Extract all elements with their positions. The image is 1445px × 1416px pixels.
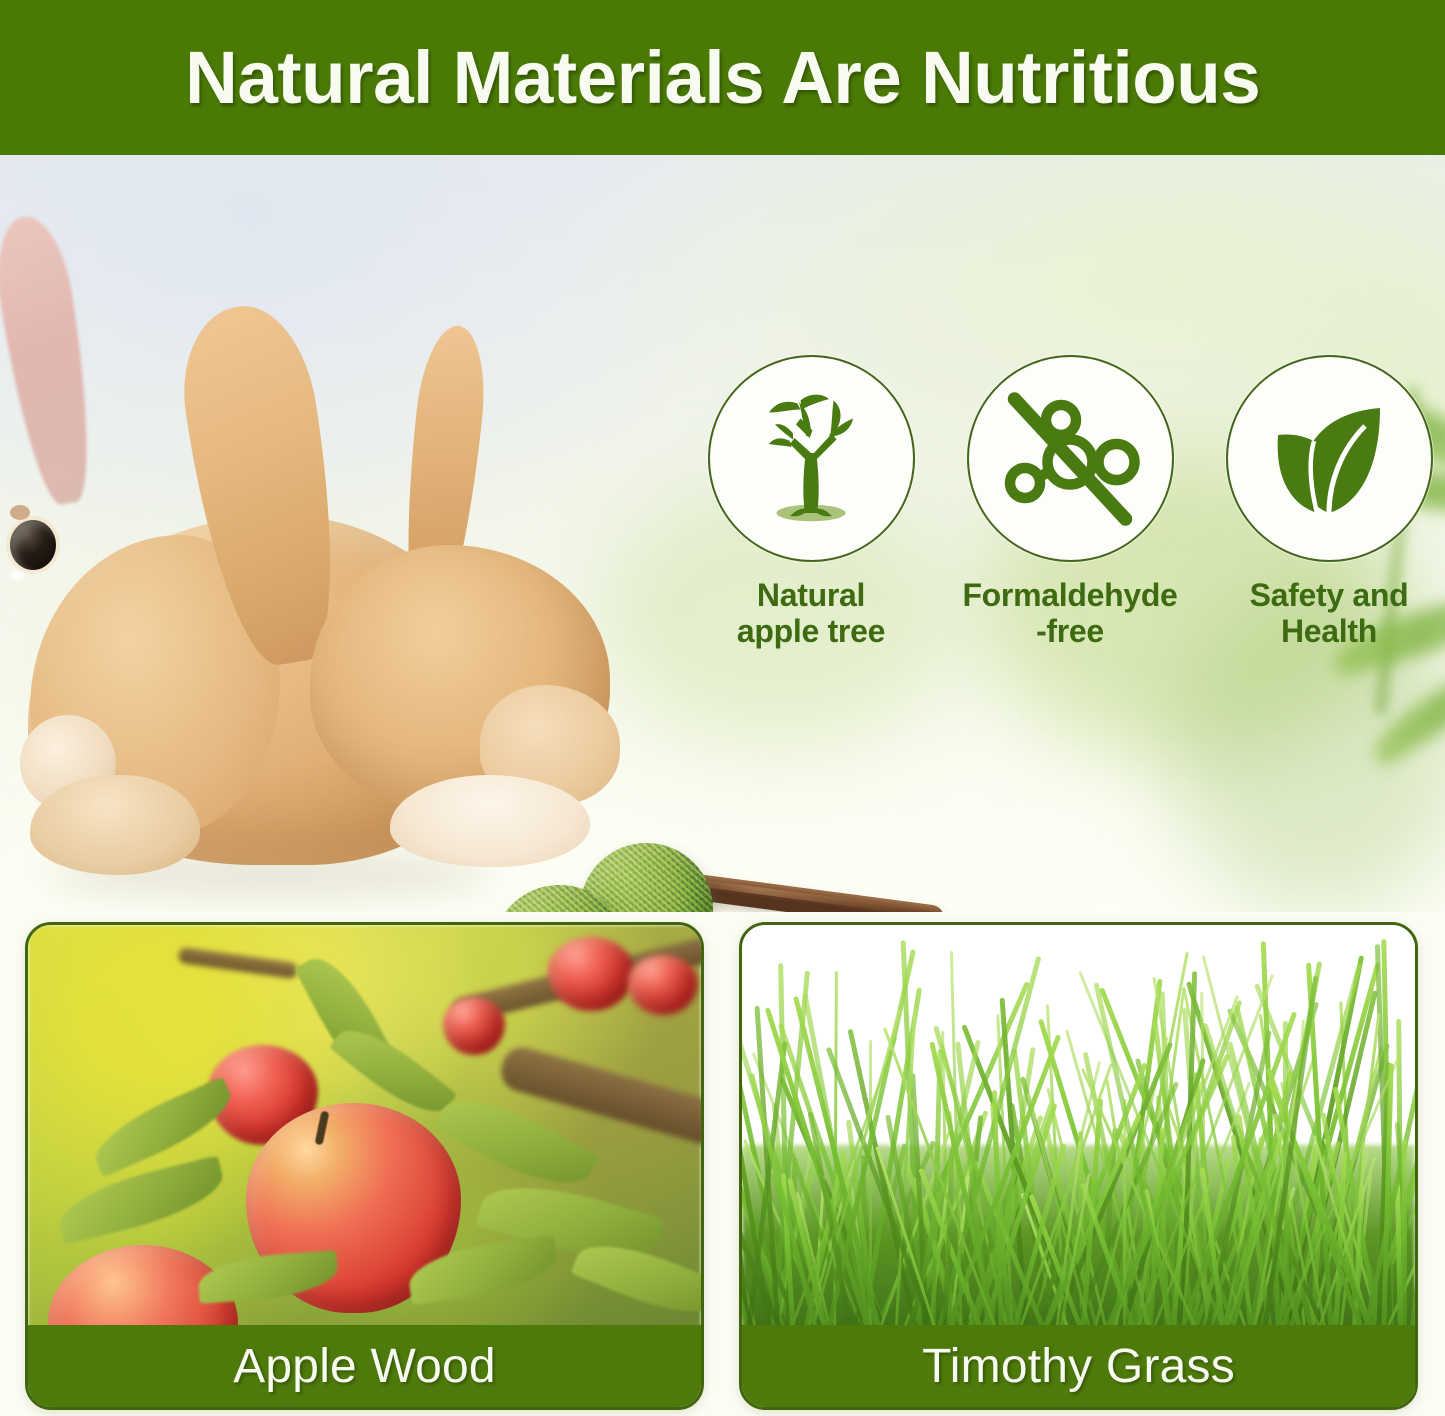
timothy-grass-photo (742, 925, 1415, 1333)
grass-field (742, 925, 1415, 1333)
material-panel-timothy-grass: Timothy Grass (739, 922, 1418, 1410)
apple-fruit (628, 955, 698, 1015)
panel-caption-bar: Timothy Grass (742, 1325, 1415, 1407)
feature-badge-group: Naturalapple tree (700, 355, 1440, 805)
rabbit-eye-glint (10, 570, 24, 581)
rabbit-hind-foot (30, 775, 200, 875)
apple-orchard-photo (28, 925, 701, 1333)
panel-caption-text: Timothy Grass (922, 1339, 1235, 1394)
panel-caption-bar: Apple Wood (28, 1325, 701, 1407)
feature-badge-formaldehyde-free: Formaldehyde-free (959, 355, 1181, 650)
apple-fruit (443, 997, 505, 1055)
badge-label: Safety andHealth (1250, 578, 1409, 650)
grass-blade (1401, 1139, 1406, 1333)
badge-label: Formaldehyde-free (962, 578, 1177, 650)
badge-circle (967, 355, 1174, 562)
product-infographic: Natural Materials Are Nutritious (0, 0, 1445, 1416)
two-leaves-icon (1254, 384, 1404, 534)
page-title: Natural Materials Are Nutritious (185, 35, 1260, 120)
apple-fruit (548, 937, 634, 1011)
feature-badge-natural-apple-tree: Naturalapple tree (700, 355, 922, 650)
badge-circle (1226, 355, 1433, 562)
rabbit-nose (10, 505, 30, 520)
apple-tree-icon (736, 384, 886, 534)
hero-section: Naturalapple tree (0, 155, 1445, 912)
material-panel-group: Apple Wood Timothy Grass (0, 920, 1445, 1416)
badge-label: Naturalapple tree (737, 578, 885, 650)
header-banner: Natural Materials Are Nutritious (0, 0, 1445, 155)
no-formaldehyde-icon (995, 384, 1145, 534)
panel-caption-text: Apple Wood (233, 1339, 496, 1394)
badge-circle (708, 355, 915, 562)
material-panel-apple-wood: Apple Wood (25, 922, 704, 1410)
rabbit-eye (10, 520, 56, 570)
rabbit-inner-ear (0, 211, 104, 509)
feature-badge-safety-and-health: Safety andHealth (1218, 355, 1440, 650)
